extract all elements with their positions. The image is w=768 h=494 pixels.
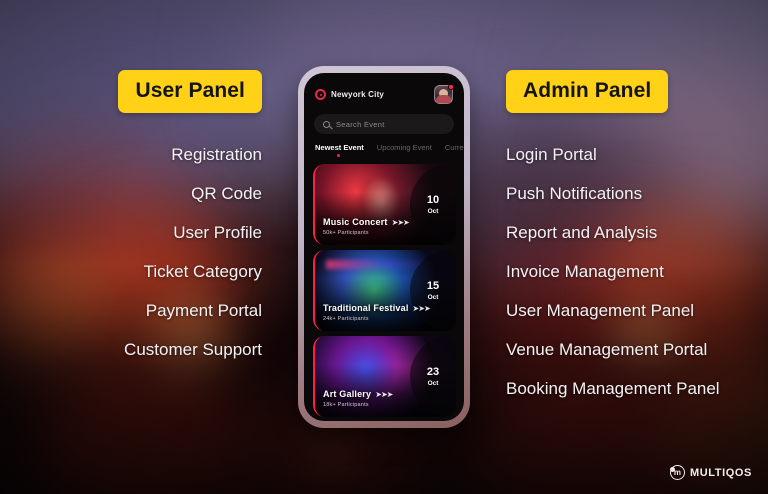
notification-badge-icon <box>448 84 454 90</box>
event-date-day: 10 <box>427 195 439 206</box>
list-item: Ticket Category <box>36 252 262 291</box>
brand-name: MULTIQOS <box>690 467 752 479</box>
tab-current-event[interactable]: Current Even <box>445 143 464 157</box>
list-item[interactable]: 10 Oct Music Concert ➤➤➤ 50k+ Participan… <box>313 164 456 245</box>
list-item[interactable]: 23 Oct Art Gallery ➤➤➤ 18k+ Participants <box>313 336 456 417</box>
list-item: Push Notifications <box>506 174 756 213</box>
list-item: Customer Support <box>36 330 262 369</box>
event-meta: Traditional Festival ➤➤➤ 24k+ Participan… <box>323 303 430 322</box>
location-label: Newyork City <box>331 90 384 99</box>
event-list: 10 Oct Music Concert ➤➤➤ 50k+ Participan… <box>304 157 464 417</box>
search-icon <box>323 121 330 128</box>
list-item: Booking Management Panel <box>506 369 756 408</box>
user-panel-column: User Panel Registration QR Code User Pro… <box>36 70 262 369</box>
event-title: Art Gallery <box>323 389 371 399</box>
event-participants: 24k+ Participants <box>323 316 430 322</box>
chevron-right-icon: ➤➤➤ <box>375 390 392 399</box>
app-header: Newyork City <box>304 73 464 104</box>
location-pin-icon <box>315 89 326 100</box>
screenshot-stage: User Panel Registration QR Code User Pro… <box>0 0 768 494</box>
event-title: Music Concert <box>323 217 388 227</box>
list-item: User Profile <box>36 213 262 252</box>
user-panel-title: User Panel <box>118 70 262 113</box>
event-tabs: Newest Event Upcoming Event Current Even <box>304 134 464 157</box>
user-panel-feature-list: Registration QR Code User Profile Ticket… <box>36 135 262 369</box>
list-item: Report and Analysis <box>506 213 756 252</box>
location-selector[interactable]: Newyork City <box>315 89 384 100</box>
admin-panel-column: Admin Panel Login Portal Push Notificati… <box>506 70 756 408</box>
list-item: QR Code <box>36 174 262 213</box>
search-input[interactable]: Search Event <box>314 114 454 134</box>
event-date-month: Oct <box>428 294 439 301</box>
event-date-month: Oct <box>428 208 439 215</box>
tab-upcoming-event[interactable]: Upcoming Event <box>377 143 432 157</box>
admin-panel-feature-list: Login Portal Push Notifications Report a… <box>506 135 756 408</box>
event-date-month: Oct <box>428 380 439 387</box>
chevron-right-icon: ➤➤➤ <box>413 304 430 313</box>
brand-logo: m MULTIQOS <box>670 465 752 480</box>
list-item[interactable]: 15 Oct Traditional Festival ➤➤➤ 24k+ Par… <box>313 250 456 331</box>
event-participants: 50k+ Participants <box>323 230 409 236</box>
list-item: User Management Panel <box>506 291 756 330</box>
tab-newest-event[interactable]: Newest Event <box>315 143 364 157</box>
phone-mockup: Newyork City Search Event Newest Event U… <box>298 66 470 428</box>
event-title: Traditional Festival <box>323 303 409 313</box>
event-title-row: Music Concert ➤➤➤ <box>323 217 409 227</box>
multiqos-logo-icon: m <box>670 465 685 480</box>
event-title-row: Art Gallery ➤➤➤ <box>323 389 392 399</box>
event-title-row: Traditional Festival ➤➤➤ <box>323 303 430 313</box>
phone-screen: Newyork City Search Event Newest Event U… <box>304 73 464 421</box>
avatar[interactable] <box>434 85 453 104</box>
admin-panel-title: Admin Panel <box>506 70 668 113</box>
list-item: Registration <box>36 135 262 174</box>
list-item: Payment Portal <box>36 291 262 330</box>
event-date-day: 15 <box>427 281 439 292</box>
chevron-right-icon: ➤➤➤ <box>392 218 409 227</box>
list-item: Invoice Management <box>506 252 756 291</box>
list-item: Venue Management Portal <box>506 330 756 369</box>
search-placeholder: Search Event <box>336 120 385 129</box>
event-date-day: 23 <box>427 367 439 378</box>
event-meta: Art Gallery ➤➤➤ 18k+ Participants <box>323 389 392 408</box>
event-participants: 18k+ Participants <box>323 402 392 408</box>
list-item: Login Portal <box>506 135 756 174</box>
event-meta: Music Concert ➤➤➤ 50k+ Participants <box>323 217 409 236</box>
